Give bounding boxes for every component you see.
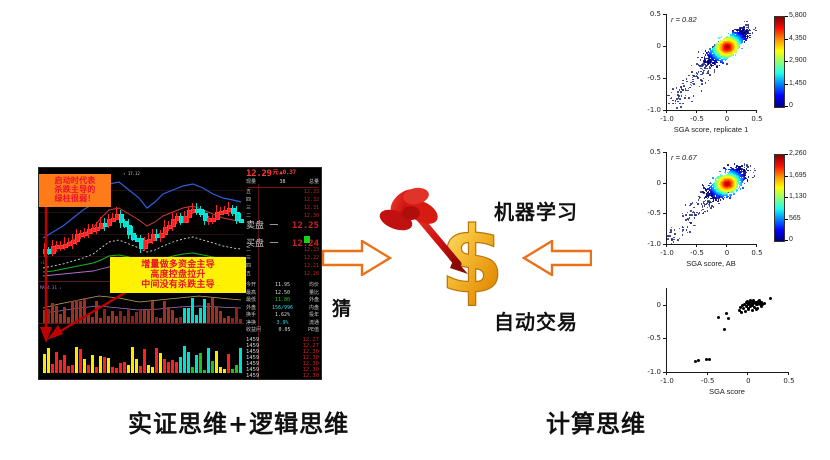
tick-time: 1459 — [246, 374, 259, 380]
scatter-point — [720, 37, 722, 39]
ask-level: 五 — [246, 190, 251, 195]
volume-bar — [159, 318, 162, 323]
candle-wick — [120, 210, 121, 228]
volume-bar — [67, 317, 70, 323]
scatter-point — [708, 200, 710, 202]
volume-bar — [199, 308, 202, 323]
scatter-point — [723, 198, 725, 200]
stat-value: 156/996 — [272, 306, 293, 311]
scatter-point — [691, 101, 693, 103]
scatter-point — [691, 85, 693, 87]
stat-value: 11.80 — [275, 298, 290, 303]
scatter-point — [719, 65, 721, 67]
x-axis-label: SGA score, AB — [666, 259, 756, 268]
x-tick-label: -1.0 — [657, 249, 677, 257]
scatter-point — [672, 103, 674, 105]
stat-label-2: 均价 — [309, 283, 319, 288]
volume-bar — [59, 314, 62, 323]
x-axis-line — [666, 244, 756, 245]
scatter-point — [708, 70, 710, 72]
scatter-point — [710, 202, 712, 204]
scatter-point — [727, 317, 730, 320]
colorbar-tick-label: 2,900 — [789, 57, 807, 64]
correlation-annotation: r = 0.82 — [671, 15, 697, 24]
scatter-point — [739, 186, 741, 188]
candle-wick — [192, 203, 193, 214]
scatter-point — [680, 106, 682, 108]
scatter-point — [671, 92, 673, 94]
candle-wick — [184, 211, 185, 224]
scatter-point — [769, 297, 772, 300]
scatter-point — [701, 83, 703, 85]
macd-bar — [199, 353, 202, 373]
macd-bar — [215, 351, 218, 373]
scatter-point — [716, 66, 718, 68]
scatter-point — [752, 32, 754, 34]
scatter-point — [736, 189, 738, 191]
scatter-point — [681, 95, 683, 97]
macd-bar — [107, 358, 110, 373]
scatter-point — [690, 223, 692, 225]
scatter-point — [676, 107, 678, 109]
scatter-point — [745, 24, 747, 26]
scatter-point — [708, 80, 710, 82]
candle-wick — [236, 206, 237, 224]
quote-volume-label: 现量 — [246, 180, 256, 185]
volume-bar — [63, 307, 66, 323]
candle-wick — [148, 233, 149, 244]
scatter-point — [733, 193, 735, 195]
candle-wick — [80, 230, 81, 239]
scatter-point — [705, 54, 707, 56]
macd-bar — [59, 360, 62, 373]
volume-bar — [55, 306, 58, 323]
stat-label: 外盘 — [246, 306, 256, 311]
scatter-point — [713, 206, 715, 208]
scatter-point — [685, 219, 687, 221]
scatter-point — [682, 227, 684, 229]
volume-bar — [135, 312, 138, 323]
candle-wick — [100, 217, 101, 229]
x-tick — [726, 244, 727, 247]
ask-price: 12.30 — [304, 214, 319, 219]
colorbar-tick — [785, 16, 788, 17]
scatter-point — [758, 299, 761, 302]
stat-label: 今开 — [246, 283, 256, 288]
macd-bar — [207, 348, 210, 373]
macd-bar — [43, 354, 46, 373]
scatter-point — [682, 89, 684, 91]
volume-bar — [163, 301, 166, 323]
quote-stat-row: 净换3.9%流通 — [246, 321, 319, 326]
scatter-point — [755, 30, 757, 32]
scatter-point — [685, 90, 687, 92]
scatter-point — [748, 176, 750, 178]
scatter-point — [682, 231, 684, 233]
x-tick-label: -0.5 — [698, 377, 718, 385]
scatter-point — [670, 231, 672, 233]
stat-label-2: 内盘 — [309, 306, 319, 311]
volume-bar — [51, 303, 54, 323]
scatter-point — [698, 213, 700, 215]
colorbar-tick — [785, 154, 788, 155]
candle-wick — [152, 229, 153, 244]
scatter-point — [684, 97, 686, 99]
volume-bar — [191, 298, 194, 323]
macd-bar — [103, 357, 106, 373]
scatter-point — [682, 80, 684, 82]
macd-bar — [231, 369, 234, 373]
caption-right: 计算思维 — [546, 404, 646, 439]
scatter-point — [675, 103, 677, 105]
macd-bar — [139, 366, 142, 373]
candle-wick — [56, 241, 57, 252]
y-tick — [663, 46, 666, 47]
scatter-point — [693, 83, 695, 85]
scatter-point — [688, 75, 690, 77]
scatter-point — [730, 194, 732, 196]
candle-wick — [52, 240, 53, 256]
volume-bar — [179, 317, 182, 323]
caption-left: 实证思维+逻辑思维 — [128, 404, 349, 439]
scatter-point — [709, 67, 711, 69]
candle-wick — [216, 205, 217, 220]
volume-bar — [223, 318, 226, 323]
scatter-point — [746, 172, 748, 174]
stat-label: 净换 — [246, 321, 256, 326]
candle-wick — [156, 229, 157, 241]
scatter-point — [723, 328, 726, 331]
colorbar — [774, 154, 785, 242]
center-diagram: $ 猜 机器学习 自动交易 — [320, 178, 620, 348]
y-axis-line — [666, 288, 667, 372]
scatter-point — [715, 199, 717, 201]
volume-bar — [87, 315, 90, 323]
slide-canvas: ↑ 17.12 ↑12 MA14.31 ↓ 17.0016.00 15.0014… — [0, 0, 830, 460]
scatter-point — [760, 305, 763, 308]
colorbar-tick-label: 565 — [789, 215, 801, 222]
scatter-panel-1: -1.0-0.500.5-1.0-0.500.5r = 0.82SGA scor… — [632, 8, 828, 140]
x-tick — [726, 110, 727, 113]
scatter-point — [687, 232, 689, 234]
scatter-point — [751, 309, 754, 312]
volume-bar — [151, 301, 154, 323]
scatter-point — [693, 95, 695, 97]
candle-wick — [64, 237, 65, 250]
macd-bar — [95, 367, 98, 373]
scatter-point — [696, 63, 698, 65]
scatter-point — [707, 68, 709, 70]
candle-wick — [84, 228, 85, 238]
scatter-point — [740, 311, 743, 314]
y-tick — [663, 183, 666, 184]
colorbar-tick — [785, 106, 788, 107]
scatter-point — [744, 21, 746, 23]
scatter-point — [703, 202, 705, 204]
macd-bar — [127, 365, 130, 373]
scatter-point — [688, 97, 690, 99]
ask-price: 12.33 — [304, 190, 319, 195]
scatter-point — [668, 95, 670, 97]
colorbar-tick — [785, 84, 788, 85]
scatter-point — [676, 87, 678, 89]
scatter-point — [693, 207, 695, 209]
scatter-point — [727, 164, 729, 166]
scatter-point — [672, 88, 674, 90]
scatter-point — [704, 205, 706, 207]
ask-row: 卖盘 一12.25 — [246, 222, 319, 231]
scatter-point — [679, 98, 681, 100]
volume-bar — [167, 307, 170, 323]
scatter-point — [744, 41, 746, 43]
macd-bar — [51, 364, 54, 373]
scatter-point — [674, 229, 676, 231]
scatter-point — [745, 39, 747, 41]
y-tick-label: 0 — [632, 42, 661, 50]
y-tick-label: -1.0 — [632, 106, 661, 114]
scatter-point — [703, 78, 705, 80]
scatter-point — [673, 241, 675, 243]
macd-bar — [179, 357, 182, 373]
macd-bar — [119, 363, 122, 373]
chart-hint-label: ↑ 17.12 — [123, 171, 140, 176]
stat-value: 12.50 — [275, 291, 290, 296]
macd-bar — [123, 362, 126, 373]
x-tick — [747, 372, 748, 375]
scatter-point — [752, 299, 755, 302]
scatter-point — [703, 70, 705, 72]
volume-bar — [207, 303, 210, 323]
scatter-point — [693, 225, 695, 227]
indicator-value-label: MA14.31 ↓ — [40, 285, 62, 290]
volume-bar — [187, 308, 190, 323]
macd-bar — [223, 369, 226, 373]
stat-label: 收益问 — [246, 328, 261, 333]
x-tick — [756, 244, 757, 247]
label-machine-learning: 机器学习 — [494, 196, 578, 225]
tick-row: 145912.30 — [246, 374, 319, 380]
scatter-point — [753, 172, 755, 174]
volume-bar — [211, 298, 214, 323]
volume-bar — [119, 311, 122, 323]
quote-stat-row: 换手1.62%投年 — [246, 313, 319, 318]
candle-wick — [116, 207, 117, 220]
macd-bar — [79, 349, 82, 373]
colorbar — [774, 16, 785, 108]
volume-bar — [183, 308, 186, 323]
macd-bar — [99, 356, 102, 373]
scatter-point — [677, 101, 679, 103]
scatter-point — [698, 203, 700, 205]
candle-wick — [60, 241, 61, 250]
colorbar-tick-label: 1,450 — [789, 80, 807, 87]
scatter-point — [717, 201, 719, 203]
y-tick — [663, 152, 666, 153]
stat-value: 11.95 — [275, 283, 290, 288]
macd-bar — [151, 367, 154, 373]
scatter-point — [689, 214, 691, 216]
candle-wick — [92, 224, 93, 234]
scatter-point — [708, 196, 710, 198]
callout-orange: 启动时代表 杀跌主导的 绿柱很弱！ — [39, 174, 111, 207]
volume-bar — [227, 316, 230, 323]
colorbar-tick-label: 1,130 — [789, 193, 807, 200]
volume-bar — [155, 317, 158, 323]
scatter-point — [704, 211, 706, 213]
scatter-point — [687, 226, 689, 228]
scatter-point — [683, 229, 685, 231]
scatter-point — [705, 82, 707, 84]
volume-bar — [147, 309, 150, 323]
x-tick-label: 0.5 — [779, 377, 799, 385]
scatter-point — [754, 170, 756, 172]
x-tick-label: -0.5 — [687, 115, 707, 123]
stat-label-2: 量比 — [309, 291, 319, 296]
scatter-point — [680, 86, 682, 88]
scatter-point — [719, 171, 721, 173]
candle-wick — [160, 230, 161, 243]
scatter-point — [677, 91, 679, 93]
candle-wick — [76, 229, 77, 245]
bid-level: 三 — [246, 256, 251, 261]
quote-price-unit: 元 — [273, 170, 279, 179]
y-tick-label: -0.5 — [632, 334, 661, 342]
scatter-point — [763, 302, 766, 305]
scatter-point — [712, 65, 714, 67]
y-tick-label: -1.0 — [632, 368, 661, 376]
scatter-point — [700, 68, 702, 70]
macd-bar — [227, 354, 230, 373]
y-tick — [663, 305, 666, 306]
scatter-point — [694, 215, 696, 217]
scatter-point — [746, 21, 748, 23]
x-axis-line — [666, 372, 788, 373]
macd-bar — [183, 346, 186, 373]
scatter-point — [689, 87, 691, 89]
ask-level: 四 — [246, 198, 251, 203]
candle-wick — [136, 235, 137, 240]
ask-level: 二 — [246, 214, 251, 219]
scatter-point — [717, 316, 720, 319]
volume-bar — [75, 300, 78, 323]
macd-bar — [191, 367, 194, 373]
bid-row: 四12.21 — [246, 264, 319, 269]
candle-wick — [168, 221, 169, 231]
volume-bar — [131, 316, 134, 323]
macd-bar — [159, 353, 162, 373]
scatter-point — [687, 212, 689, 214]
ma-value-label: ↑12 — [40, 260, 47, 265]
scatter-point — [740, 185, 742, 187]
scatter-point — [689, 231, 691, 233]
candle-wick — [112, 213, 113, 222]
colorbar-tick — [785, 61, 788, 62]
scatter-point — [692, 81, 694, 83]
y-axis-line — [666, 152, 667, 244]
candle-wick — [96, 222, 97, 234]
bid-row: 五12.20 — [246, 272, 319, 277]
scatter-point — [738, 188, 740, 190]
macd-bar — [211, 361, 214, 373]
scatter-point — [722, 62, 724, 64]
quote-change: ▲0.37 — [279, 170, 296, 179]
x-tick — [756, 110, 757, 113]
bid-row: 三12.22 — [246, 256, 319, 261]
candle-wick — [140, 235, 141, 253]
candle-wick — [144, 237, 145, 252]
ask-size-marker — [304, 236, 310, 243]
x-tick-label: 0 — [738, 377, 758, 385]
quote-stat-row: 外盘156/996内盘 — [246, 306, 319, 311]
macd-bar — [167, 362, 170, 373]
candle-wick — [208, 216, 209, 225]
scatter-point — [728, 33, 730, 35]
colorbar-tick-label: 0 — [789, 236, 793, 243]
candle-wick — [240, 213, 241, 223]
volume-bar — [239, 319, 242, 323]
scatter-point — [695, 225, 697, 227]
scatter-point — [703, 53, 705, 55]
volume-bar — [79, 301, 82, 323]
scatter-point — [747, 180, 749, 182]
candle-wick — [88, 224, 89, 238]
scatter-point — [701, 80, 703, 82]
scatter-point — [708, 358, 711, 361]
scatter-point — [707, 210, 709, 212]
callout-yellow-line-1: 增量做多资金主导 — [112, 260, 244, 270]
ask-row: 三12.31 — [246, 206, 319, 211]
scatter-point — [709, 74, 711, 76]
volume-bar — [143, 310, 146, 323]
scatter-point — [668, 103, 670, 105]
callout-orange-line-3: 绿柱很弱！ — [41, 195, 109, 204]
macd-bar — [55, 352, 58, 373]
scatter-point — [702, 74, 704, 76]
y-tick-label: 0 — [632, 179, 661, 187]
candle-wick — [232, 205, 233, 216]
scatter-point — [683, 85, 685, 87]
x-tick-label: 0.5 — [747, 115, 767, 123]
macd-bar — [219, 367, 222, 373]
stat-value: 1.62% — [275, 313, 290, 318]
x-axis-label: SGA score — [666, 387, 788, 396]
scatter-point — [747, 37, 749, 39]
quote-volume-value: 38 — [279, 180, 285, 185]
volume-bar — [47, 309, 50, 323]
scatter-point — [686, 81, 688, 83]
scatter-point — [682, 83, 684, 85]
scatter-point — [749, 33, 751, 35]
colorbar-tick — [785, 240, 788, 241]
scatter-point — [701, 57, 703, 59]
ask-level: 三 — [246, 206, 251, 211]
volume-bar — [71, 301, 74, 323]
scatter-point — [714, 71, 716, 73]
scatter-point — [697, 76, 699, 78]
stat-label-2: 投年 — [309, 313, 319, 318]
scatter-point — [667, 238, 669, 240]
scatter-point — [700, 59, 702, 61]
volume-bar — [91, 317, 94, 323]
scatter-point — [689, 217, 691, 219]
volume-bar — [235, 307, 238, 323]
scatter-point — [707, 207, 709, 209]
volume-bar — [99, 318, 102, 323]
y-tick-label: -0.5 — [632, 74, 661, 82]
macd-bar — [175, 362, 178, 373]
scatter-point — [699, 86, 701, 88]
macd-bar — [71, 365, 74, 373]
